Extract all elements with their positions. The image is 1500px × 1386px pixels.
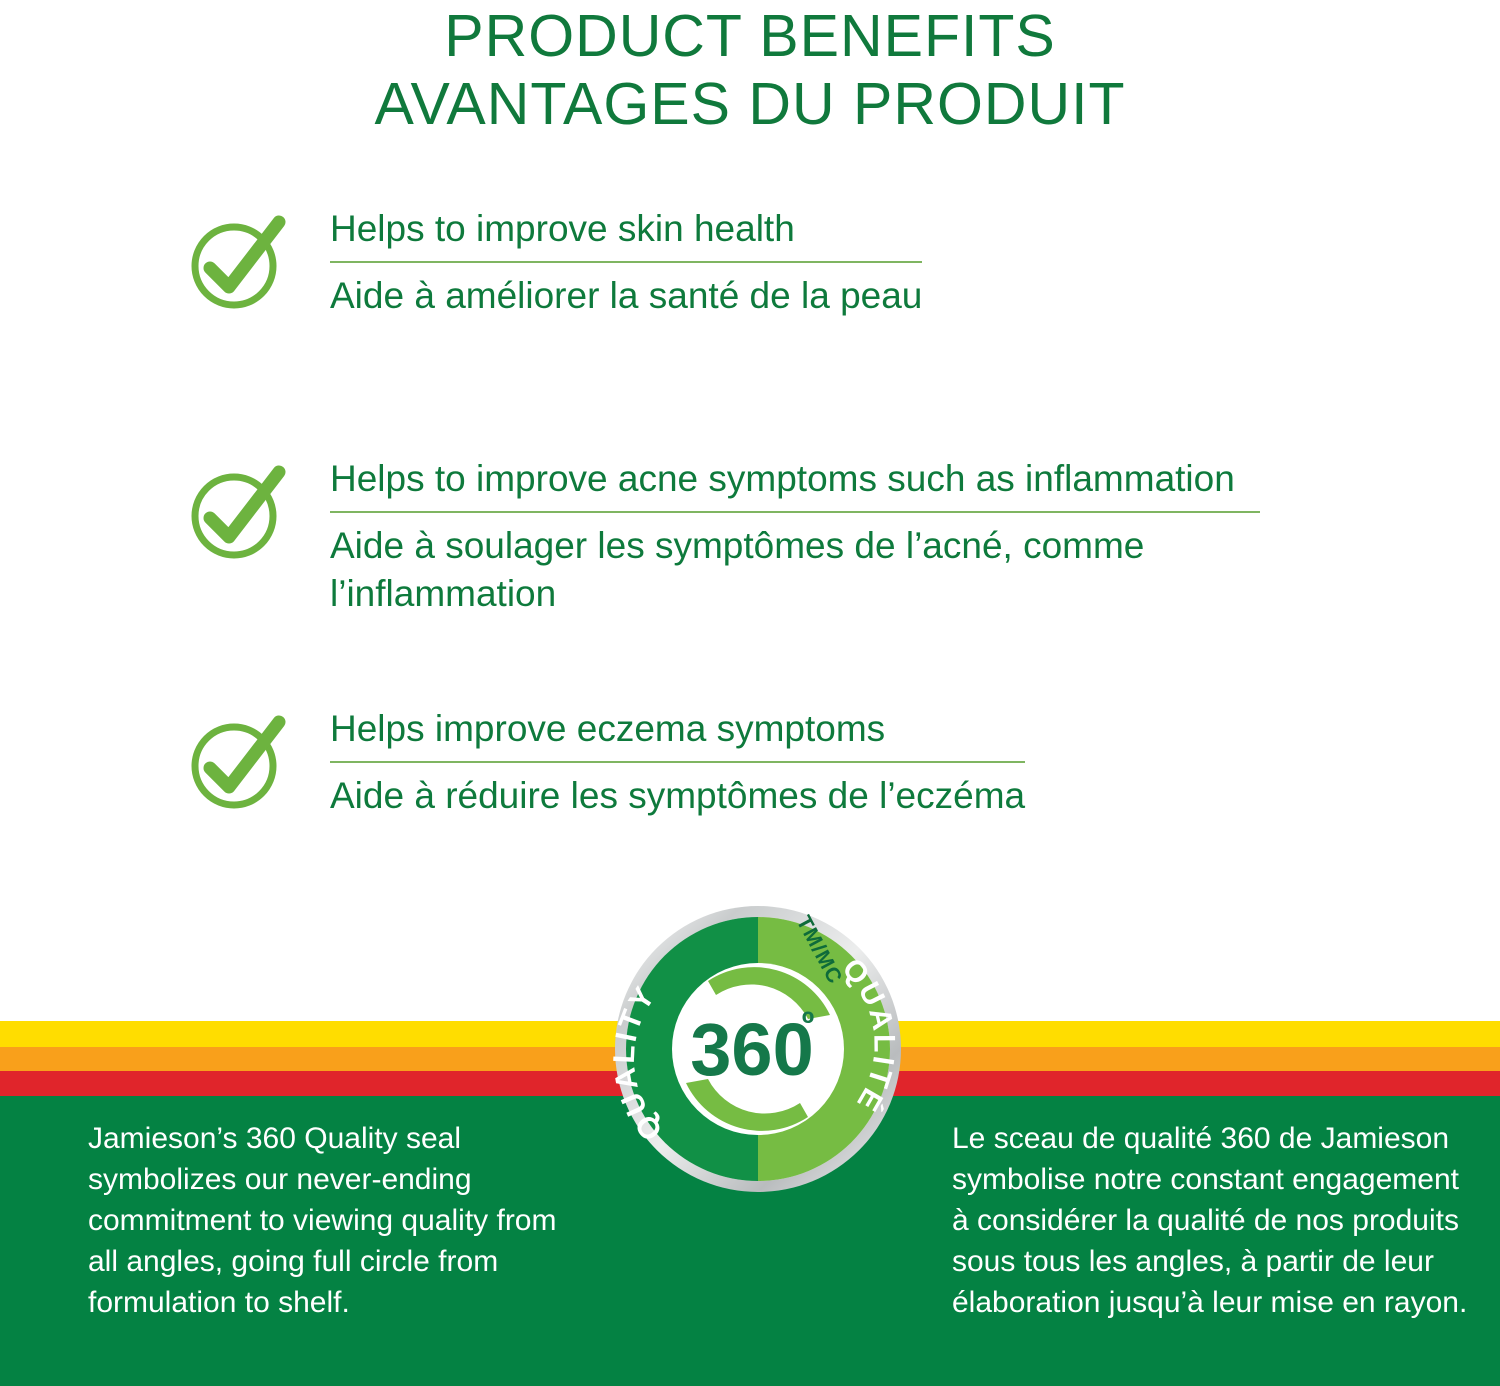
check-circle-icon [186,714,286,814]
benefit-text-block: Helps improve eczema symptoms Aide à réd… [330,696,1025,820]
product-benefits-infographic: PRODUCT BENEFITS AVANTAGES DU PRODUIT He… [0,0,1500,1386]
benefit-divider [330,511,1260,513]
benefit-divider [330,261,922,263]
benefits-list: Helps to improve skin health Aide à amél… [0,196,1500,876]
check-circle-icon [186,464,286,564]
benefit-text-french: Aide à améliorer la santé de la peau [330,272,922,320]
seal-center-text: 360 [690,1008,813,1091]
title-french: AVANTAGES DU PRODUIT [0,70,1500,138]
check-circle-icon [186,214,286,314]
seal-degree-symbol: º [802,1005,814,1043]
benefit-item: Helps to improve acne symptoms such as i… [0,446,1500,696]
title-english: PRODUCT BENEFITS [0,2,1500,70]
benefit-text-french: Aide à réduire les symptômes de l’eczéma [330,772,1025,820]
benefit-divider [330,761,1025,763]
benefit-text-block: Helps to improve skin health Aide à amél… [330,196,922,320]
page-title: PRODUCT BENEFITS AVANTAGES DU PRODUIT [0,0,1500,138]
benefit-item: Helps to improve skin health Aide à amél… [0,196,1500,446]
footer-text-french: Le sceau de qualité 360 de Jamieson symb… [952,1118,1472,1323]
benefit-text-english: Helps to improve skin health [330,206,922,252]
benefit-text-block: Helps to improve acne symptoms such as i… [330,446,1260,618]
benefit-text-english: Helps to improve acne symptoms such as i… [330,456,1260,502]
benefit-item: Helps improve eczema symptoms Aide à réd… [0,696,1500,876]
benefit-text-french: Aide à soulager les symptômes de l’acné,… [330,522,1260,618]
quality-360-seal-icon: 360 º QUALITY QUALITÉ [612,903,904,1195]
footer-text-english: Jamieson’s 360 Quality seal symbolizes o… [88,1118,588,1323]
benefit-text-english: Helps improve eczema symptoms [330,706,1025,752]
